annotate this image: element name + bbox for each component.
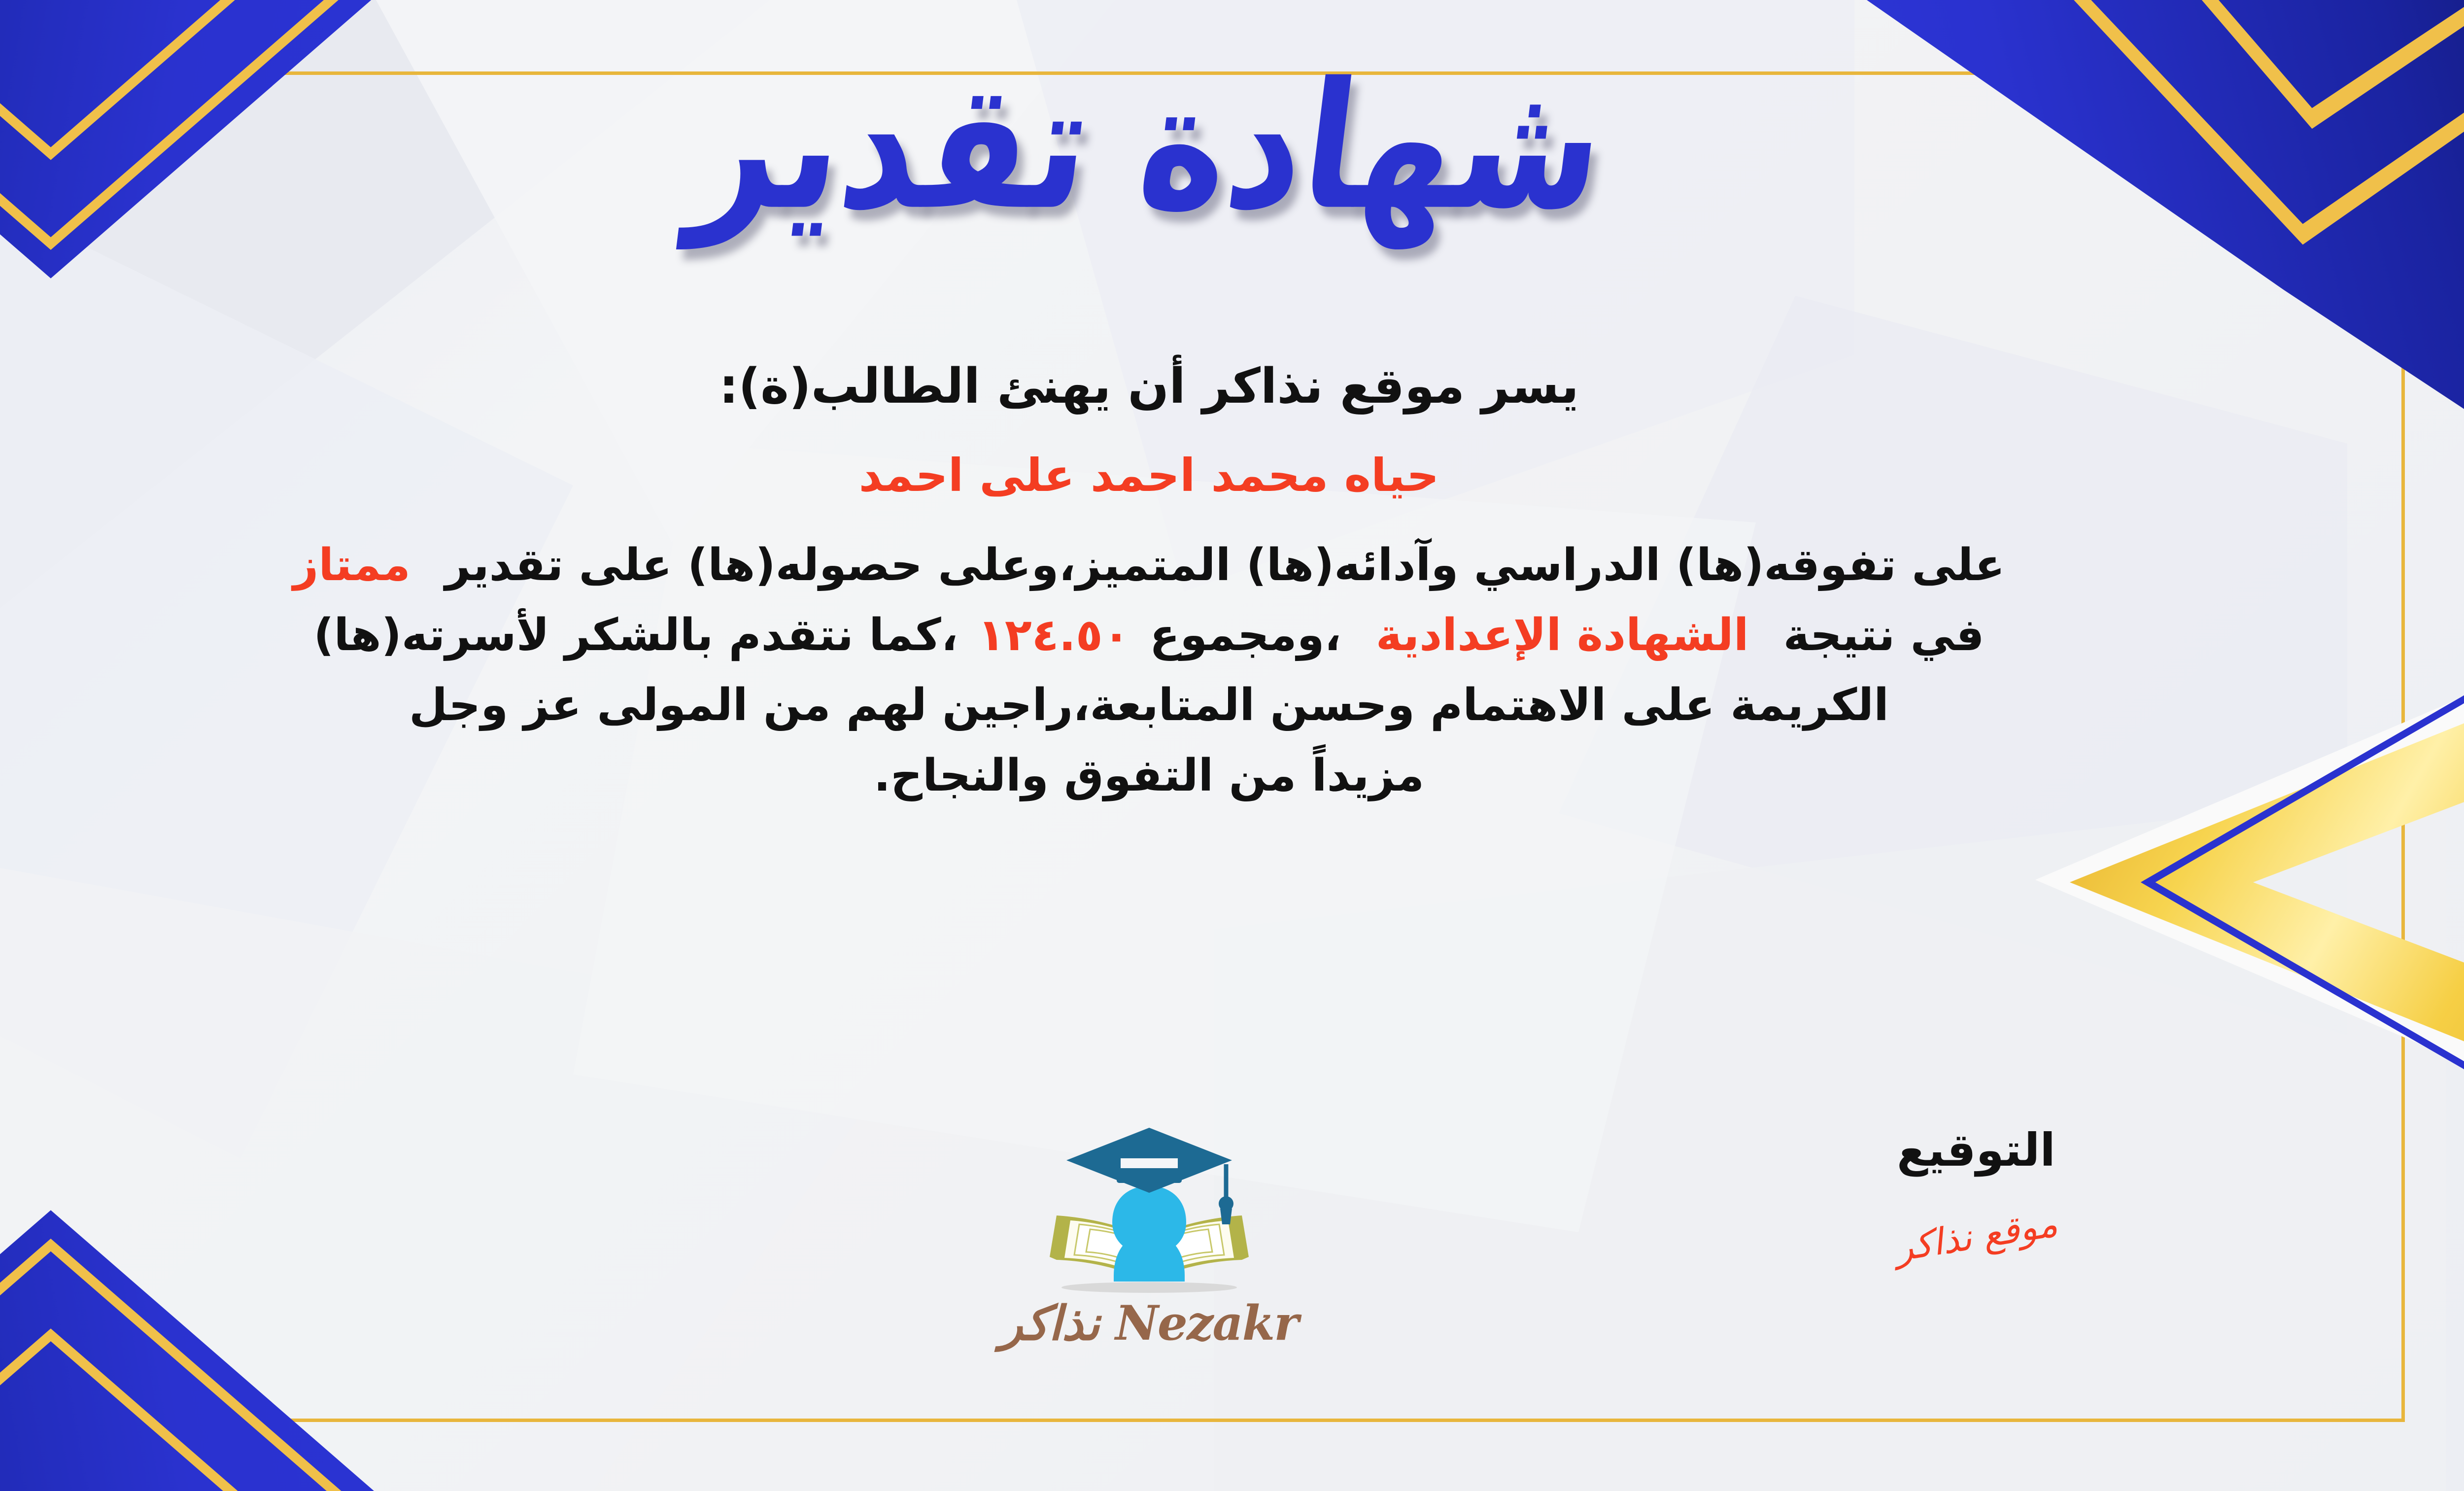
greeting-line: يسر موقع نذاكر أن يهنئ الطالب(ة):: [0, 350, 2400, 423]
achievement-paragraph-line-4: مزيداً من التفوق والنجاح.: [0, 741, 2400, 811]
thanks-text: ،كما نتقدم بالشكر لأسرته(ها): [313, 609, 958, 661]
certificate-title: شهادة تقدير: [682, 37, 1616, 256]
logo-wordmark: Nezakr نذاكر: [977, 1295, 1322, 1351]
graduate-person-icon: [1112, 1186, 1186, 1282]
exam-result-prefix: في نتيجة: [1783, 609, 1985, 661]
nezakr-logo-icon: [1011, 1119, 1287, 1306]
certificate-footer: التوقيع موقع نذاكر: [0, 1109, 2400, 1415]
achievement-paragraph-line-3: الكريمة على الاهتمام وحسن المتابعة،راجين…: [0, 670, 2400, 740]
achievement-paragraph-line-2: في نتيجةالشهادة الإعدادية،ومجموع١٢٤.٥٠،ك…: [0, 600, 2400, 670]
certificate-body: يسر موقع نذاكر أن يهنئ الطالب(ة): حياه م…: [0, 350, 2400, 811]
signature-block: التوقيع موقع نذاكر: [1789, 1124, 2163, 1257]
total-label: ،ومجموع: [1150, 609, 1341, 661]
signature-mark: موقع نذاكر: [1892, 1203, 2060, 1270]
signature-label: التوقيع: [1789, 1124, 2163, 1177]
achievement-text-part-1: على تفوقه(ها) الدراسي وآدائه(ها) المتميز…: [445, 539, 2005, 591]
title-area: شهادة تقدير: [0, 54, 2400, 239]
certificate-page: شهادة تقدير يسر موقع نذاكر أن يهنئ الطال…: [0, 0, 2464, 1491]
student-name: حياه محمد احمد على احمد: [0, 449, 2400, 502]
brand-logo: Nezakr نذاكر: [977, 1119, 1322, 1351]
grade-value: ممتاز: [293, 539, 410, 591]
total-score: ١٢٤.٥٠: [978, 609, 1130, 661]
exam-name: الشهادة الإعدادية: [1376, 609, 1749, 661]
certificate-content: شهادة تقدير يسر موقع نذاكر أن يهنئ الطال…: [0, 74, 2400, 1420]
achievement-paragraph-line-1: على تفوقه(ها) الدراسي وآدائه(ها) المتميز…: [0, 530, 2400, 600]
